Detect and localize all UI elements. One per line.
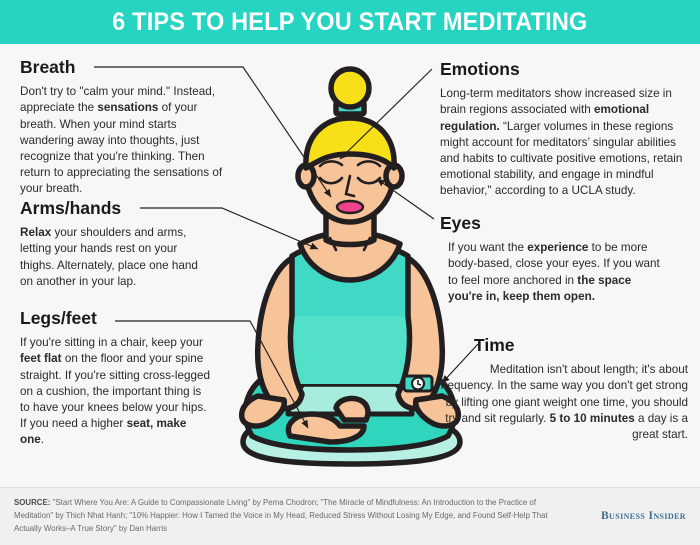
- hair-bun: [331, 69, 369, 107]
- business-insider-logo: Business Insider: [601, 510, 686, 522]
- header-bar: 6 TIPS TO HELP YOU START MEDITATING: [0, 0, 700, 44]
- tip-time: Time Meditation isn't about length; it's…: [440, 336, 688, 443]
- infographic-canvas: Breath Don't try to "calm your mind." In…: [0, 44, 700, 487]
- source-credit: SOURCE: "Start Where You Are: A Guide to…: [14, 497, 554, 535]
- tip-time-body: Meditation isn't about length; it's abou…: [440, 362, 688, 443]
- tip-arms-hands-body: Relax your shoulders and arms, letting y…: [20, 225, 210, 290]
- tip-time-heading: Time: [440, 336, 688, 355]
- tip-eyes-heading: Eyes: [440, 214, 664, 233]
- tip-breath-heading: Breath: [20, 58, 232, 77]
- tip-arms-hands-heading: Arms/hands: [20, 199, 210, 218]
- tip-arms-hands: Arms/hands Relax your shoulders and arms…: [20, 199, 210, 290]
- tip-breath-body: Don't try to "calm your mind." Instead, …: [20, 84, 232, 197]
- tip-emotions-body: Long-term meditators show increased size…: [440, 86, 686, 199]
- footer-bar: SOURCE: "Start Where You Are: A Guide to…: [0, 487, 700, 545]
- source-text: "Start Where You Are: A Guide to Compass…: [14, 498, 548, 533]
- tip-legs-feet: Legs/feet If you're sitting in a chair, …: [20, 309, 212, 448]
- tip-legs-feet-heading: Legs/feet: [20, 309, 212, 328]
- tip-legs-feet-body: If you're sitting in a chair, keep your …: [20, 335, 212, 448]
- wristwatch: [404, 376, 432, 391]
- infographic-page: 6 TIPS TO HELP YOU START MEDITATING: [0, 0, 700, 545]
- tip-breath: Breath Don't try to "calm your mind." In…: [20, 58, 232, 197]
- tip-eyes: Eyes If you want the experience to be mo…: [440, 214, 664, 305]
- source-label: SOURCE:: [14, 498, 53, 507]
- tip-emotions: Emotions Long-term meditators show incre…: [440, 60, 686, 199]
- foot-back: [336, 398, 368, 420]
- tip-emotions-heading: Emotions: [440, 60, 686, 79]
- page-title: 6 TIPS TO HELP YOU START MEDITATING: [112, 8, 587, 37]
- tip-eyes-body: If you want the experience to be more bo…: [440, 240, 664, 305]
- tank-top-shade: [282, 316, 418, 384]
- lips: [337, 201, 363, 213]
